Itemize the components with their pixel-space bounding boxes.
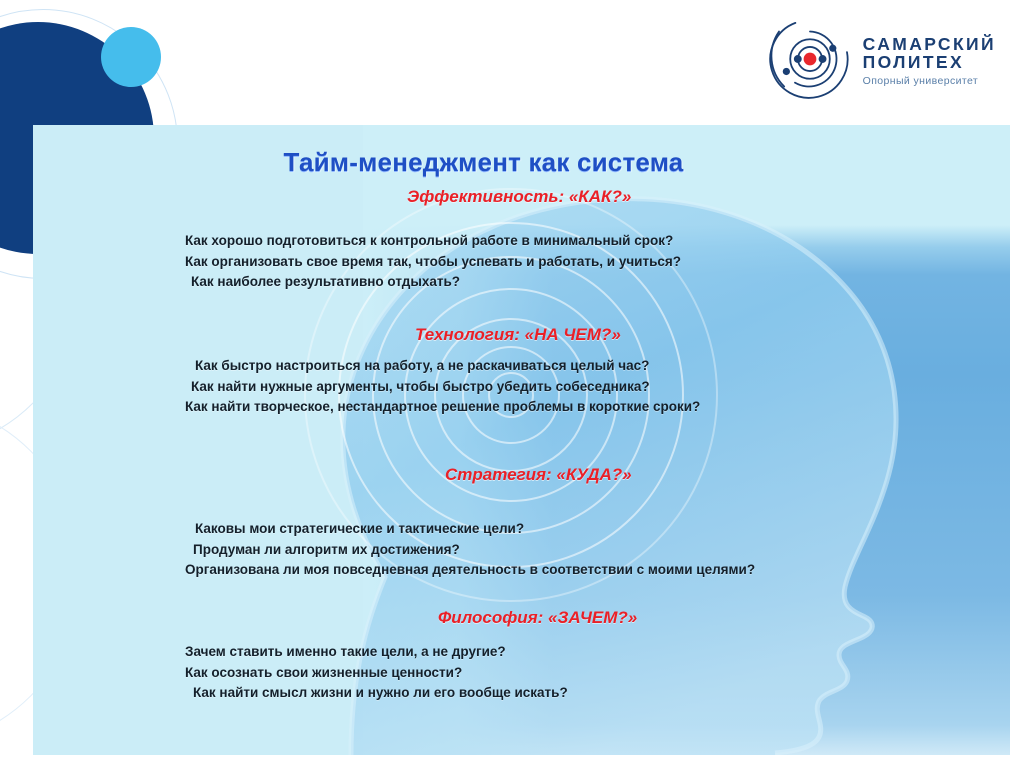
question-line: Как организовать свое время так, чтобы у… — [185, 252, 1010, 273]
university-logo: САМАРСКИЙ ПОЛИТЕХ Опорный университет — [767, 16, 996, 102]
slide-content: Тайм-менеджмент как система Эффективност… — [33, 125, 1010, 755]
logo-line-3: Опорный университет — [863, 76, 996, 87]
section-strategy: Стратегия: «КУДА?» Каковы мои стратегиче… — [33, 465, 1010, 581]
logo-line-1: САМАРСКИЙ — [863, 36, 996, 54]
section-heading: Философия: «ЗАЧЕМ?» — [438, 608, 1010, 628]
question-line: Организована ли моя повседневная деятель… — [185, 560, 1010, 581]
question-line: Каковы мои стратегические и тактические … — [185, 519, 1010, 540]
question-line: Продуман ли алгоритм их достижения? — [185, 540, 1010, 561]
section-heading: Стратегия: «КУДА?» — [445, 465, 1010, 485]
question-line: Как хорошо подготовиться к контрольной р… — [185, 231, 1010, 252]
page-title-text: Тайм-менеджмент как система — [284, 147, 684, 178]
page-title: Тайм-менеджмент как система — [33, 147, 1010, 178]
question-line: Как наиболее результативно отдыхать? — [185, 272, 1010, 293]
section-lines: Как хорошо подготовиться к контрольной р… — [185, 231, 1010, 293]
section-heading: Технология: «НА ЧЕМ?» — [415, 325, 1010, 345]
question-line: Как найти творческое, нестандартное реше… — [185, 397, 1010, 418]
section-effectiveness: Эффективность: «КАК?» Как хорошо подгото… — [33, 187, 1010, 293]
section-technology: Технология: «НА ЧЕМ?» Как быстро настрои… — [33, 325, 1010, 418]
slide-panel: Тайм-менеджмент как система Эффективност… — [33, 125, 1010, 755]
section-philosophy: Философия: «ЗАЧЕМ?» Зачем ставить именно… — [33, 608, 1010, 704]
section-lines: Зачем ставить именно такие цели, а не др… — [185, 642, 1010, 704]
section-heading: Эффективность: «КАК?» — [407, 187, 1010, 207]
question-line: Как найти нужные аргументы, чтобы быстро… — [185, 377, 1010, 398]
logo-line-2: ПОЛИТЕХ — [863, 54, 996, 72]
question-line: Как быстро настроиться на работу, а не р… — [185, 356, 1010, 377]
section-lines: Как быстро настроиться на работу, а не р… — [185, 356, 1010, 418]
section-lines: Каковы мои стратегические и тактические … — [185, 519, 1010, 581]
decor-cyan-circle-icon — [101, 27, 161, 87]
question-line: Как найти смысл жизни и нужно ли его воо… — [185, 683, 1010, 704]
question-line: Зачем ставить именно такие цели, а не др… — [185, 642, 1010, 663]
concentric-rings-logo-icon — [767, 16, 853, 102]
logo-wordmark: САМАРСКИЙ ПОЛИТЕХ Опорный университет — [863, 32, 996, 87]
question-line: Как осознать свои жизненные ценности? — [185, 663, 1010, 684]
